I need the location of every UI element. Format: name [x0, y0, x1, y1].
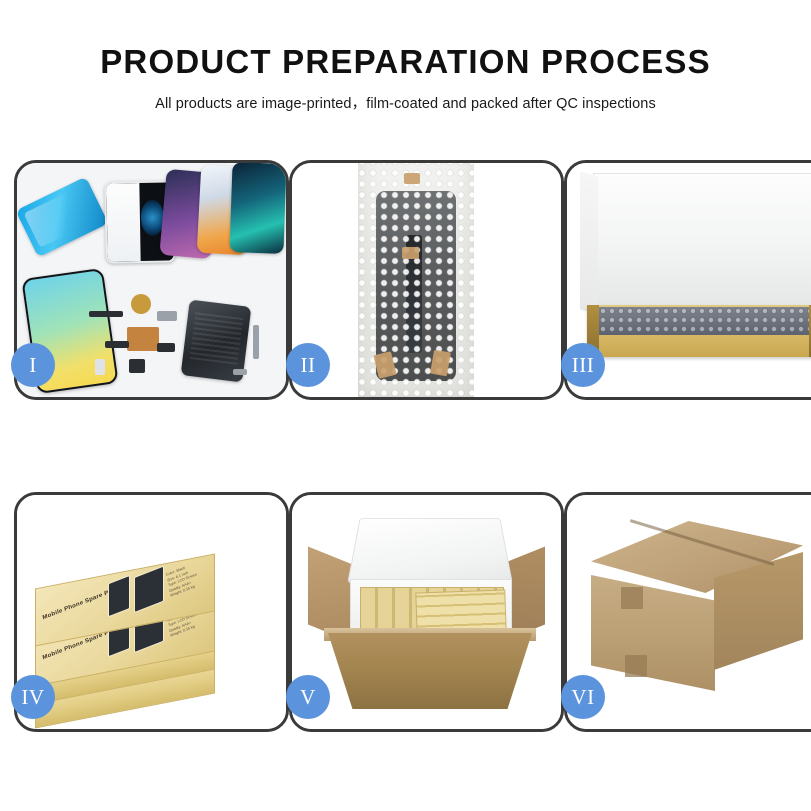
gold-tray-icon [587, 305, 811, 357]
box-swatch-icon [108, 575, 130, 618]
kraft-tape-icon [404, 173, 420, 184]
pcb-board-icon [127, 327, 159, 351]
panel-3-caption: Wrapped item placed into white-lidded go… [567, 163, 568, 164]
bracket-icon [157, 311, 177, 321]
camera-module-icon [129, 359, 145, 373]
bubble-wrap-bag-icon [358, 163, 474, 397]
header: PRODUCT PREPARATION PROCESS All products… [0, 0, 811, 113]
step-badge-6: VI [561, 675, 605, 719]
carton-front-face-icon [591, 575, 715, 691]
panel-1-image [17, 163, 286, 397]
kraft-tape-2-icon [402, 247, 419, 259]
step-badge-5: V [286, 675, 330, 719]
flex-cable-icon [105, 341, 129, 348]
panel-2-image [292, 163, 561, 397]
box-spec-text: Color: Black Size: 6.1 inch Type: LCD Sc… [166, 562, 200, 599]
step-badge-1: I [11, 343, 55, 387]
bubble-filler-icon [599, 307, 809, 335]
connector-icon [157, 343, 175, 352]
foam-lid-icon [347, 518, 513, 583]
packing-tape-icon [621, 587, 643, 609]
step-badge-2: II [286, 343, 330, 387]
page-subtitle: All products are image-printed，film-coat… [0, 92, 811, 113]
panel-4-caption: Gold retail boxes stacked ready for cart… [17, 495, 18, 496]
packing-tape-icon [625, 655, 647, 677]
antenna-strip-icon [89, 311, 123, 317]
teal-phone-icon [229, 163, 286, 254]
panel-2-caption: Screen wrapped in bubble wrap and sealed… [292, 163, 293, 164]
panel-4-image: Mobile Phone Spare Parts Color: Black Si… [17, 495, 286, 729]
panel-step-3: III Wrapped item placed into white-lidde… [564, 160, 811, 400]
brown-carton-icon [328, 633, 532, 709]
step-badge-3: III [561, 343, 605, 387]
panel-5-caption: Boxes loaded into foam case inside the s… [292, 495, 293, 496]
process-steps-grid: I Mobile phone LCD screens, display asse… [14, 160, 797, 732]
sim-tray-icon [95, 359, 105, 375]
panel-step-6: VI Sealed brown shipping carton ready fo… [564, 492, 811, 732]
speaker-component-icon [131, 294, 151, 314]
panel-step-1: I Mobile phone LCD screens, display asse… [14, 160, 289, 400]
panel-1-caption: Mobile phone LCD screens, display assemb… [17, 163, 18, 164]
panel-step-2: II Screen wrapped in bubble wrap and sea… [289, 160, 564, 400]
panel-step-5: V Boxes loaded into foam case inside the… [289, 492, 564, 732]
panel-step-4: Mobile Phone Spare Parts Color: Black Si… [14, 492, 289, 732]
panel-5-image [292, 495, 561, 729]
screwdriver-icon [253, 325, 259, 359]
step-badge-4: IV [11, 675, 55, 719]
box-swatch-icon [134, 566, 164, 614]
page-title: PRODUCT PREPARATION PROCESS [0, 44, 811, 80]
screws-icon [233, 369, 247, 375]
panel-6-caption: Sealed brown shipping carton ready for d… [567, 495, 568, 496]
white-lid-icon [593, 173, 811, 313]
blue-lcd-film-icon [17, 177, 108, 258]
